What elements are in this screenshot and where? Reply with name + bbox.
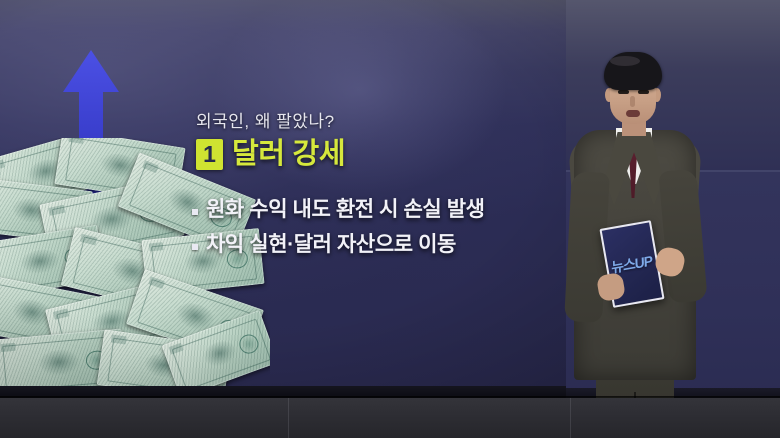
graphic-panel: 외국인, 왜 팔았나? 1 달러 강세 원화 수익 내도 환전 시 손실 발생 … (0, 0, 566, 392)
anchor-nose (630, 96, 635, 107)
kicker-text: 외국인, 왜 팔았나? (196, 107, 335, 132)
news-anchor: 뉴스UP (560, 52, 740, 438)
headline-text: 달러 강세 (232, 140, 345, 169)
floor-seam (288, 398, 289, 438)
studio-floor (0, 398, 780, 438)
bullet-list: 원화 수익 내도 환전 시 손실 발생 차익 실현·달러 자산으로 이동 (192, 199, 485, 269)
anchor-eye-right (638, 90, 649, 94)
bullet-text: 차익 실현·달러 자산으로 이동 (206, 234, 456, 256)
number-badge: 1 (196, 139, 223, 170)
broadcast-screenshot: 외국인, 왜 팔았나? 1 달러 강세 원화 수익 내도 환전 시 손실 발생 … (0, 0, 780, 438)
anchor-hair (604, 52, 662, 90)
square-bullet-icon (192, 209, 198, 215)
floor-seam (570, 398, 571, 438)
headline-row: 1 달러 강세 (196, 139, 345, 170)
square-bullet-icon (192, 244, 198, 250)
anchor-eye-left (618, 90, 629, 94)
bullet-text: 원화 수익 내도 환전 시 손실 발생 (206, 199, 485, 221)
list-item: 차익 실현·달러 자산으로 이동 (192, 234, 485, 256)
anchor-mouth (626, 110, 640, 117)
list-item: 원화 수익 내도 환전 시 손실 발생 (192, 199, 485, 221)
